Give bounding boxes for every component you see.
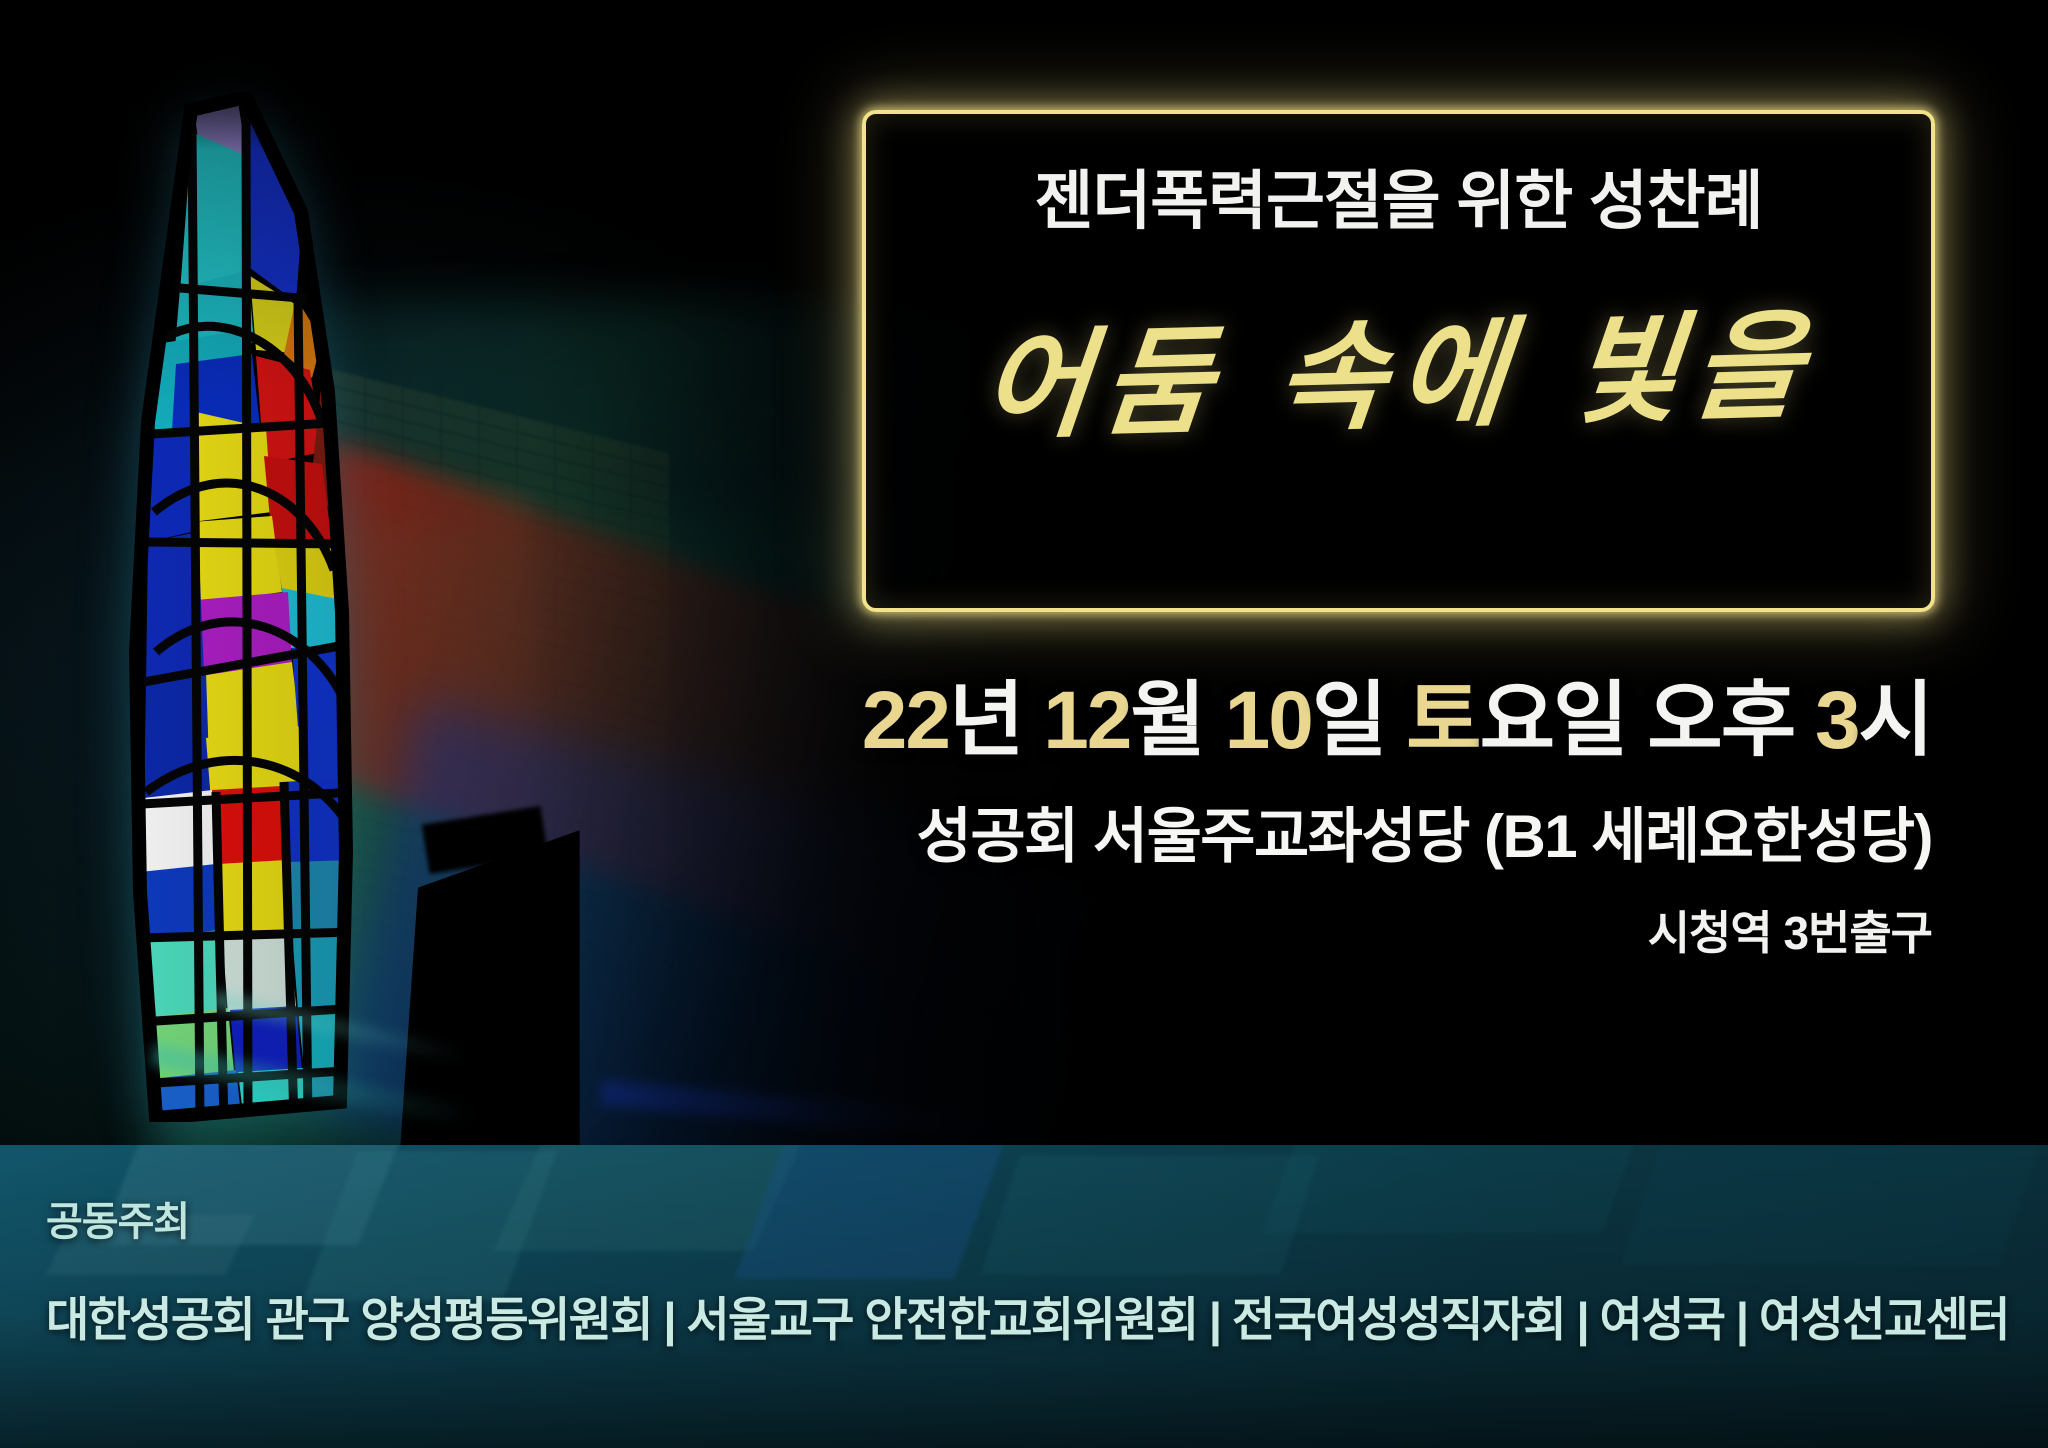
date-segment: 일 (1312, 675, 1385, 766)
date-segment (1385, 675, 1406, 766)
poster-canvas: 젠더폭력근절을 위한 성찬례 어둠 속에 빛을 22년 12월 10일 토요일 … (0, 0, 2048, 1448)
footer-band: 공동주최 대한성공회 관구 양성평등위원회 | 서울교구 안전한교회위원회 | … (0, 1145, 2048, 1448)
date-segment (1022, 675, 1043, 766)
date-segment: 토 (1406, 675, 1479, 766)
date-segment: 요일 (1480, 675, 1627, 766)
footer-label-cohost: 공동주최 (46, 1189, 2048, 1247)
date-segment: 월 (1130, 675, 1203, 766)
event-date-line: 22년 12월 10일 토요일 오후 3시 (0, 680, 1932, 762)
date-segment: 시 (1859, 675, 1932, 766)
date-segment: 22 (862, 675, 949, 766)
footer-organizer-list: 대한성공회 관구 양성평등위원회 | 서울교구 안전한교회위원회 | 전국여성성… (46, 1281, 2048, 1350)
date-segment: 3 (1815, 675, 1859, 766)
page-title: 젠더폭력근절을 위한 성찬례 (1034, 150, 1762, 242)
date-segment: 오후 (1626, 675, 1814, 766)
stained-glass-window (96, 92, 426, 1122)
event-transit: 시청역 3번출구 (0, 897, 1932, 963)
event-info-block: 22년 12월 10일 토요일 오후 3시 성공회 서울주교좌성당 (B1 세례… (0, 680, 1990, 963)
date-segment (1204, 675, 1225, 766)
event-venue: 성공회 서울주교좌성당 (B1 세례요한성당) (0, 788, 1932, 875)
calligraphy-slogan: 어둠 속에 빛을 (974, 269, 1822, 462)
date-segment: 12 (1043, 675, 1130, 766)
headline-box: 젠더폭력근절을 위한 성찬례 어둠 속에 빛을 (862, 110, 1935, 612)
date-segment: 10 (1225, 675, 1312, 766)
date-segment: 년 (949, 675, 1022, 766)
